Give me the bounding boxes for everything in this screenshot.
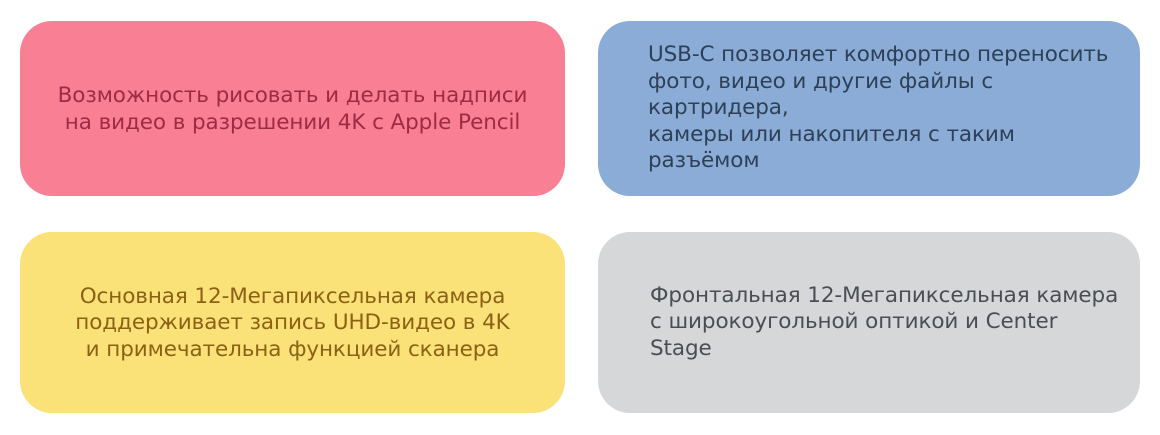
feature-card-text: Основная 12-Мегапиксельная камера поддер…	[20, 282, 565, 364]
feature-card-rear-camera: Основная 12-Мегапиксельная камера поддер…	[20, 232, 565, 413]
feature-card-text: Возможность рисовать и делать надписи на…	[20, 81, 565, 136]
feature-card-front-camera: Фронтальная 12-Мегапиксельная камера с ш…	[598, 232, 1140, 413]
feature-card-apple-pencil: Возможность рисовать и делать надписи на…	[20, 21, 565, 196]
feature-card-grid: Возможность рисовать и делать надписи на…	[0, 0, 1160, 435]
feature-card-text: USB-C позволяет комфортно переносить фот…	[598, 42, 1140, 175]
feature-card-text: Фронтальная 12-Мегапиксельная камера с ш…	[598, 283, 1140, 363]
feature-card-usb-c: USB-C позволяет комфортно переносить фот…	[598, 21, 1140, 196]
